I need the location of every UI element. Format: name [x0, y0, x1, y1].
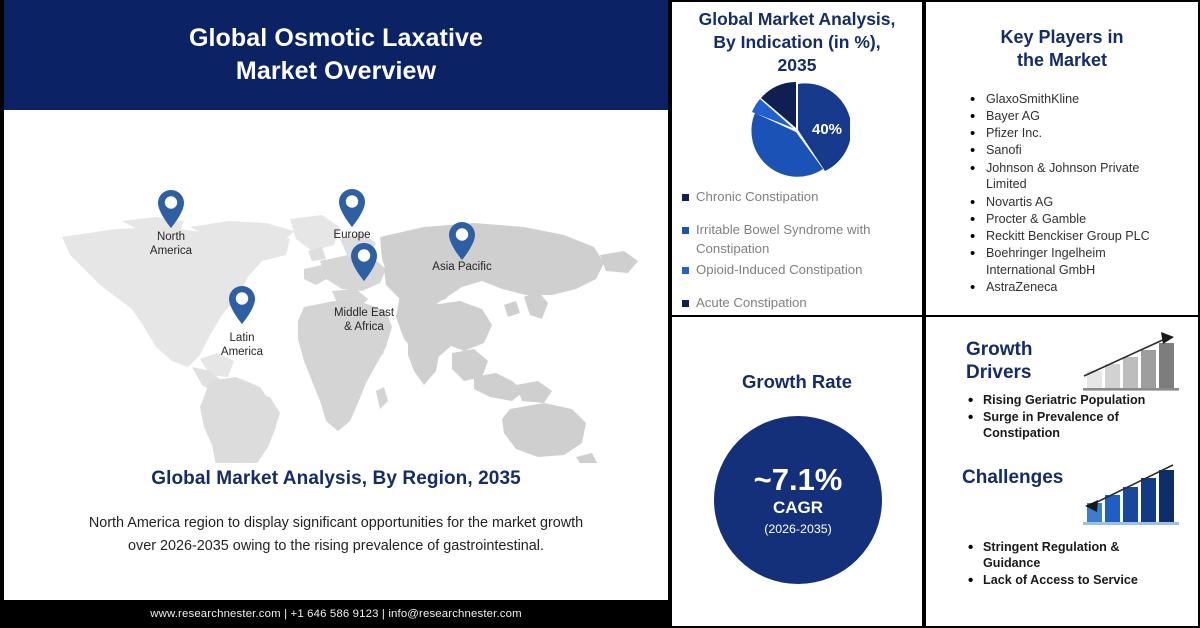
key-players-panel: Key Players in the Market GlaxoSmithKlin… — [926, 2, 1198, 315]
legend-swatch-icon — [682, 227, 689, 234]
region-analysis-title: Global Market Analysis, By Region, 2035 — [4, 468, 668, 490]
list-item: Sanofi — [970, 142, 1170, 159]
legend-label: Irritable Bowel Syndrome with Constipati… — [696, 221, 914, 257]
challenges-title: Challenges — [962, 467, 1063, 490]
growth-drivers-title: Growth Drivers — [966, 339, 1033, 385]
growth-rate-title: Growth Rate — [678, 370, 916, 394]
cagr-circle-badge: ~7.1% CAGR (2026-2035) — [714, 416, 882, 584]
map-pin-middle-east-africa[interactable] — [349, 242, 379, 282]
challenges-header: Challenges — [962, 467, 1063, 490]
legend-swatch-icon — [682, 194, 689, 201]
legend-item-chronic-constipation: Chronic Constipation — [682, 188, 922, 206]
left-panel: Global Osmotic Laxative Market Overview — [4, 0, 668, 628]
legend-label: Chronic Constipation — [696, 188, 818, 206]
cagr-percent-value: ~7.1% — [754, 464, 843, 497]
page-title: Global Osmotic Laxative Market Overview — [189, 22, 483, 88]
world-map-graphic — [4, 113, 668, 463]
map-label-latin-america: Latin America — [221, 332, 263, 359]
list-item: Reckitt Benckiser Group PLC — [970, 228, 1170, 245]
growth-rate-panel: Growth Rate ~7.1% CAGR (2026-2035) — [672, 317, 922, 626]
map-pin-north-america[interactable] — [156, 189, 186, 229]
world-map-panel: North America Europe Asia Pacific Middle… — [4, 113, 668, 463]
legend-item-ibs-constipation: Irritable Bowel Syndrome with Constipati… — [682, 221, 922, 257]
indication-pie-panel: Global Market Analysis, By Indication (i… — [672, 2, 922, 315]
key-players-list: GlaxoSmithKline Bayer AG Pfizer Inc. San… — [970, 91, 1198, 296]
list-item: Procter & Gamble — [970, 211, 1170, 228]
legend-item-acute-constipation: Acute Constipation — [682, 294, 922, 312]
pie-legend: Chronic Constipation Irritable Bowel Syn… — [682, 188, 922, 312]
list-item: Surge in Prevalence of Constipation — [968, 409, 1168, 442]
list-item: AstraZeneca — [970, 279, 1170, 296]
challenges-trend-bar-chart-icon — [1081, 460, 1186, 528]
region-analysis-description: North America region to display signific… — [76, 512, 596, 559]
map-label-middle-east-africa: Middle East & Africa — [334, 307, 394, 334]
legend-swatch-icon — [682, 300, 689, 307]
map-pin-asia-pacific[interactable] — [447, 221, 477, 261]
challenges-list: Stringent Regulation & Guidance Lack of … — [968, 539, 1168, 589]
list-item: Lack of Access to Service — [968, 572, 1168, 588]
cagr-metric-label: CAGR — [773, 498, 823, 518]
pie-slice-value-label: 40% — [812, 121, 842, 138]
growth-drivers-list: Rising Geriatric Population Surge in Pre… — [968, 392, 1168, 442]
growth-trend-bar-chart-icon — [1081, 331, 1186, 393]
list-item: GlaxoSmithKline — [970, 91, 1170, 108]
header-banner: Global Osmotic Laxative Market Overview — [4, 0, 668, 110]
legend-label: Acute Constipation — [696, 294, 807, 312]
legend-swatch-icon — [682, 267, 689, 274]
map-pin-europe[interactable] — [337, 188, 367, 228]
pie-chart: 40% — [672, 80, 922, 180]
map-pin-latin-america[interactable] — [227, 285, 257, 325]
list-item: Stringent Regulation & Guidance — [968, 539, 1168, 572]
infographic-root: Global Osmotic Laxative Market Overview — [0, 0, 1200, 628]
list-item: Novartis AG — [970, 194, 1170, 211]
list-item: Rising Geriatric Population — [968, 392, 1168, 408]
footer-contact-text: www.researchnester.com | +1 646 586 9123… — [150, 608, 522, 620]
footer-bar: www.researchnester.com | +1 646 586 9123… — [4, 600, 668, 628]
list-item: Bayer AG — [970, 108, 1170, 125]
pie-chart-title: Global Market Analysis, By Indication (i… — [678, 8, 916, 76]
drivers-challenges-panel: Growth Drivers Rising Geriatric Populati… — [926, 317, 1198, 626]
map-label-north-america: North America — [150, 231, 192, 258]
legend-label: Opioid-Induced Constipation — [696, 261, 862, 279]
legend-item-opioid-induced-constipation: Opioid-Induced Constipation — [682, 261, 922, 279]
map-label-europe: Europe — [333, 229, 370, 243]
cagr-period-label: (2026-2035) — [764, 522, 832, 536]
growth-drivers-header: Growth Drivers — [966, 339, 1033, 385]
list-item: Johnson & Johnson Private Limited — [970, 160, 1170, 193]
list-item: Boehringer Ingelheim International GmbH — [970, 245, 1170, 278]
map-label-asia-pacific: Asia Pacific — [432, 261, 491, 275]
list-item: Pfizer Inc. — [970, 125, 1170, 142]
key-players-title: Key Players in the Market — [940, 26, 1184, 73]
